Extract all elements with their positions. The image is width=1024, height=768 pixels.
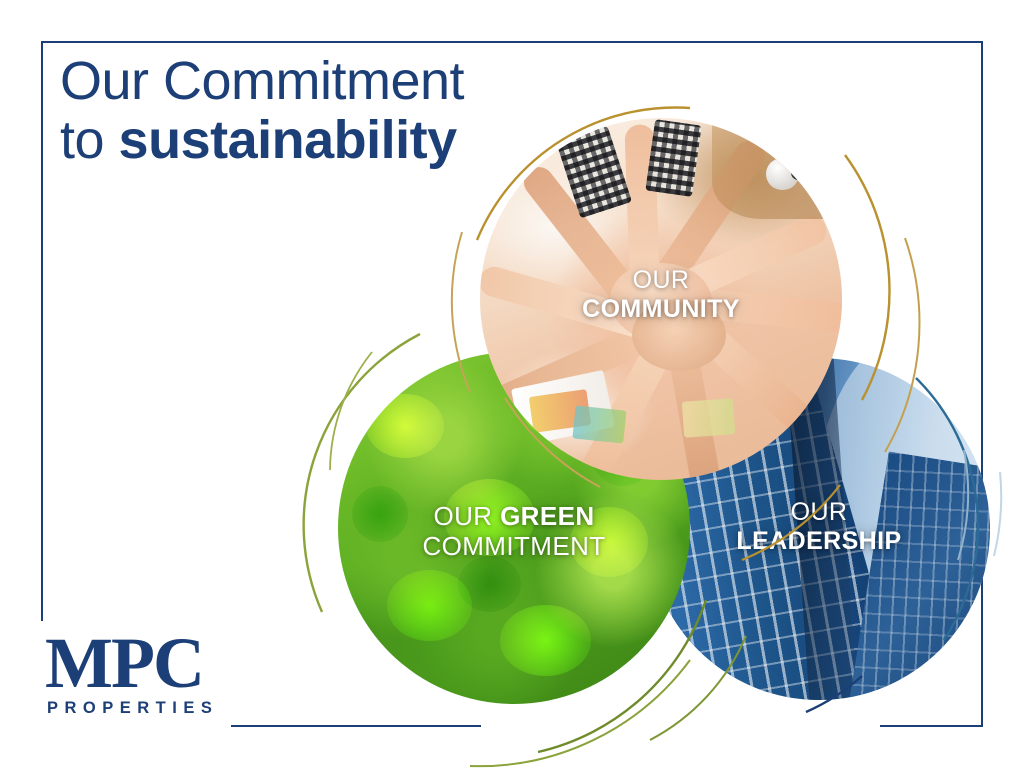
frame-border-top: [41, 41, 983, 43]
caption-green-commitment: OUR GREEN COMMITMENT: [338, 502, 690, 561]
caption-community-line-2: COMMUNITY: [582, 295, 740, 323]
title-line-1: Our Commitment: [60, 52, 464, 111]
steel-arc-outer-right: [994, 472, 1001, 556]
title-line-2: to sustainability: [60, 111, 464, 170]
page-title: Our Commitment to sustainability: [60, 52, 464, 171]
slide-canvas: Our Commitment to sustainability: [0, 0, 1024, 768]
logo-subtitle: PROPERTIES: [47, 699, 218, 718]
caption-community-line-1: OUR: [633, 266, 690, 294]
frame-border-left: [41, 41, 43, 621]
frame-border-bottom: [231, 725, 481, 727]
brand-logo[interactable]: MPC PROPERTIES: [45, 632, 218, 718]
caption-green-line-1-bold: GREEN: [500, 501, 594, 531]
title-line-2-emphasis: sustainability: [119, 110, 457, 170]
logo-wordmark: MPC: [45, 632, 218, 695]
caption-community: OUR COMMUNITY: [480, 266, 842, 323]
caption-leadership-line-1: OUR: [791, 498, 848, 526]
frame-border-bottom-right: [880, 725, 983, 727]
title-line-2-prefix: to: [60, 110, 119, 170]
caption-leadership-line-2: LEADERSHIP: [736, 527, 901, 555]
caption-leadership: OUR LEADERSHIP: [648, 498, 990, 555]
caption-green-line-1-regular: OUR: [433, 501, 500, 531]
circle-community[interactable]: OUR COMMUNITY: [480, 118, 842, 480]
caption-green-line-2: COMMITMENT: [422, 531, 605, 561]
